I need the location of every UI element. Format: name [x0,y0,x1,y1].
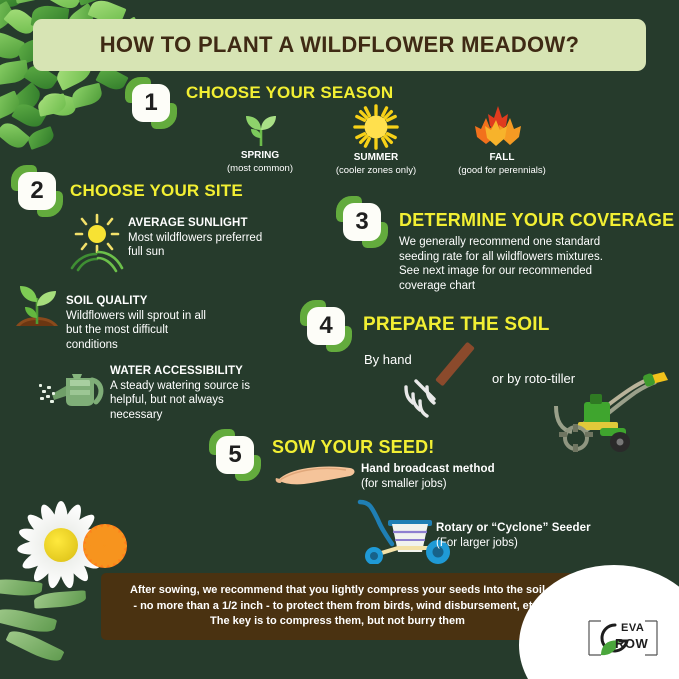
step-number-4: 4 [307,307,345,345]
site-item-water-title: WATER ACCESSIBILITY [110,364,320,379]
daisy-leaf [34,590,87,609]
daisy-center [44,528,78,562]
step-number-1: 1 [132,84,170,122]
sow-method-seeder: Rotary or “Cyclone” Seeder (For larger j… [436,521,636,550]
site-item-soil-line1: Wildflowers will sprout in all [66,309,281,324]
site-item-soil: SOIL QUALITY Wildflowers will sprout in … [66,294,281,353]
step-number-3: 3 [343,203,381,241]
step-badge-1: 1 [128,80,174,126]
leaves-left-edge-decoration [0,96,98,176]
seedling-soil-icon [8,274,66,332]
site-item-soil-line3: conditions [66,338,281,353]
season-note-spring: (most common) [227,163,293,174]
site-item-soil-line2: but the most difficult [66,323,281,338]
page-title: HOW TO PLANT A WILDFLOWER MEADOW? [100,32,580,58]
daisy-leaf [0,577,43,598]
watering-can-icon [36,364,108,412]
sun-over-field-icon [66,212,128,274]
site-item-water: WATER ACCESSIBILITY A steady watering so… [110,364,320,423]
step-3-line3: See next image for our recommended [399,264,669,279]
season-name-summer: SUMMER [354,152,398,163]
open-hand-icon [274,458,358,492]
roto-tiller-icon [548,366,672,456]
season-note-summer: (cooler zones only) [336,165,416,176]
season-caption-spring: SPRING (most common) [205,150,315,174]
site-item-water-line1: A steady watering source is [110,379,320,394]
title-banner: HOW TO PLANT A WILDFLOWER MEADOW? [33,19,646,71]
footer-banner: After sowing, we recommend that you ligh… [101,573,574,640]
footer-line2: - no more than a 1/2 inch - to protect t… [133,600,541,612]
season-name-spring: SPRING [241,150,279,161]
sow-method-hand: Hand broadcast method (for smaller jobs) [361,462,541,491]
sow-method-hand-note: (for smaller jobs) [361,477,541,492]
season-name-fall: FALL [490,152,515,163]
season-caption-summer: SUMMER (cooler zones only) [316,152,436,176]
sun-icon [352,104,400,150]
step-heading-1: CHOOSE YOUR SEASON [186,83,393,103]
sow-method-seeder-title: Rotary or “Cyclone” Seeder [436,521,636,536]
site-item-sunlight-line1: Most wildflowers preferred [128,231,328,246]
rake-icon [394,337,480,419]
season-note-fall: (good for perennials) [458,165,546,176]
step-badge-2: 2 [14,168,60,214]
step-heading-5: SOW YOUR SEED! [272,437,435,458]
site-item-sunlight-title: AVERAGE SUNLIGHT [128,216,328,231]
site-item-sunlight-line2: full sun [128,245,328,260]
footer-line3: The key is to compress them, but not bur… [210,615,465,627]
step-3-description: We generally recommend one standard seed… [399,235,669,294]
eva-grow-logo: EVA ROW [585,615,661,661]
infographic-canvas: HOW TO PLANT A WILDFLOWER MEADOW? 1 CHOO… [0,0,679,679]
logo-text-eva: EVA [621,622,644,634]
site-item-sunlight: AVERAGE SUNLIGHT Most wildflowers prefer… [128,216,328,260]
step-number-5: 5 [216,436,254,474]
footer-line1: After sowing, we recommend that you ligh… [130,584,545,596]
logo-text-grow: ROW [615,636,648,651]
step-badge-4: 4 [303,303,349,349]
sow-method-hand-title: Hand broadcast method [361,462,541,477]
step-3-line4: coverage chart [399,279,669,294]
season-caption-fall: FALL (good for perennials) [437,152,567,176]
step-badge-5: 5 [212,432,258,478]
step-heading-3: DETERMINE YOUR COVERAGE [399,210,674,231]
daisy-leaf [5,626,64,666]
sow-method-seeder-note: (For larger jobs) [436,536,636,551]
step-heading-4: PREPARE THE SOIL [363,314,550,336]
sprout-icon [240,108,282,148]
site-item-soil-title: SOIL QUALITY [66,294,281,309]
step-badge-3: 3 [339,199,385,245]
site-item-water-line3: necessary [110,408,320,423]
orange-marigold-decoration [83,524,127,568]
step-3-line2: seeding rate for all wildflowers mixture… [399,250,669,265]
step-3-line1: We generally recommend one standard [399,235,669,250]
maple-leaf-icon [470,104,526,150]
step-number-2: 2 [18,172,56,210]
step-heading-2: CHOOSE YOUR SITE [70,181,243,201]
site-item-water-line2: helpful, but not always [110,393,320,408]
